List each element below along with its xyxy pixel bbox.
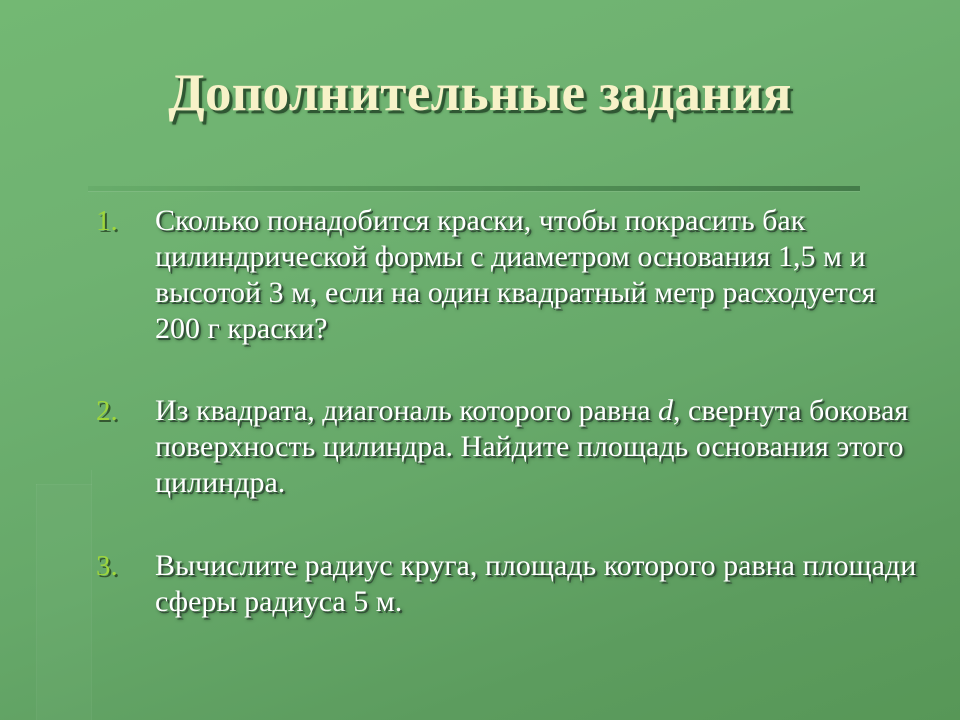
- list-item: 3. Вычислите радиус круга, площадь котор…: [96, 548, 926, 620]
- list-item-marker: 2.: [96, 393, 144, 429]
- task-list: 1. Сколько понадобится краски, чтобы пок…: [0, 0, 960, 720]
- list-item-text: Из квадрата, диагональ которого равна d,…: [155, 393, 926, 501]
- list-item-text: Сколько понадобится краски, чтобы покрас…: [155, 203, 926, 347]
- list-item: 2. Из квадрата, диагональ которого равна…: [96, 393, 926, 501]
- list-item-text: Вычислите радиус круга, площадь которого…: [155, 548, 926, 620]
- presentation-slide: Дополнительные задания 1. Сколько понадо…: [0, 0, 960, 720]
- list-item-text-part-1: Из квадрата, диагональ которого равна: [155, 394, 658, 427]
- list-item-marker: 1.: [96, 203, 144, 239]
- math-variable-d: d: [658, 394, 673, 427]
- list-item: 1. Сколько понадобится краски, чтобы пок…: [96, 203, 926, 347]
- list-item-marker: 3.: [96, 548, 144, 584]
